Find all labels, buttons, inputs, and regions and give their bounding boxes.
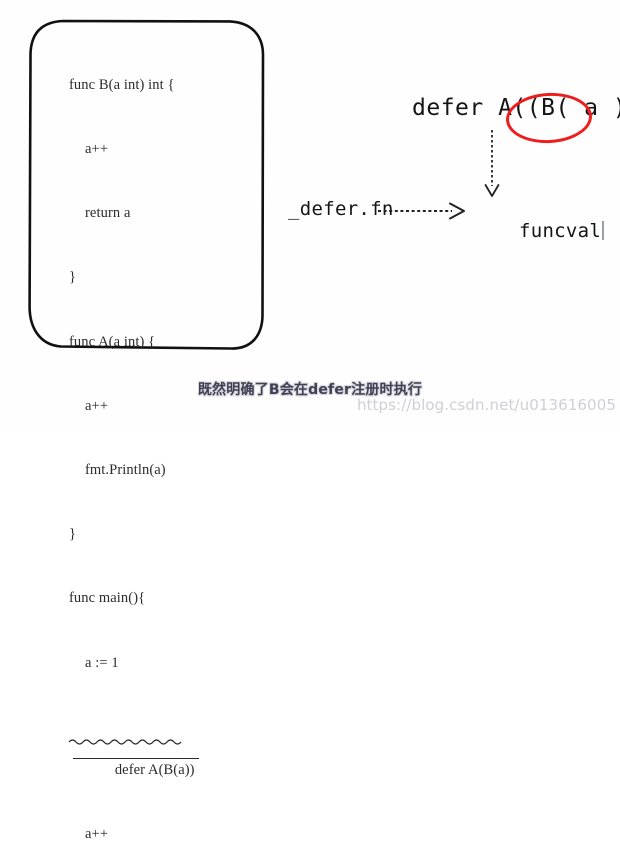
- dashed-down-arrow: [472, 128, 512, 204]
- code-line-defer-text: defer A(B(a)): [115, 762, 195, 778]
- funcval-text: funcval: [519, 220, 601, 242]
- code-line: return a: [69, 203, 269, 224]
- code-line: }: [69, 267, 269, 288]
- code-line: a++: [69, 824, 269, 845]
- code-line: }: [69, 524, 269, 545]
- funcval-label: funcval: [472, 198, 604, 264]
- defer-squiggle-underline: [69, 738, 181, 746]
- watermark-url: https://blog.csdn.net/u013616005: [357, 396, 616, 414]
- slide-canvas: func B(a int) int { a++ return a } func …: [0, 0, 620, 426]
- code-line: a := 1: [69, 653, 269, 674]
- dashed-right-arrow: [376, 200, 472, 222]
- code-line: func A(a int) {: [69, 332, 269, 353]
- defer-straight-underline: [73, 758, 199, 759]
- code-line: a++: [69, 139, 269, 160]
- code-line: func main(){: [69, 588, 269, 609]
- code-line-defer: defer A(B(a)): [69, 738, 269, 759]
- code-line: a++: [69, 396, 269, 417]
- code-listing: func B(a int) int { a++ return a } func …: [69, 32, 269, 852]
- code-box: func B(a int) int { a++ return a } func …: [27, 18, 265, 350]
- code-line: func B(a int) int {: [69, 75, 269, 96]
- text-caret: [602, 221, 603, 240]
- code-line: fmt.Println(a): [69, 460, 269, 481]
